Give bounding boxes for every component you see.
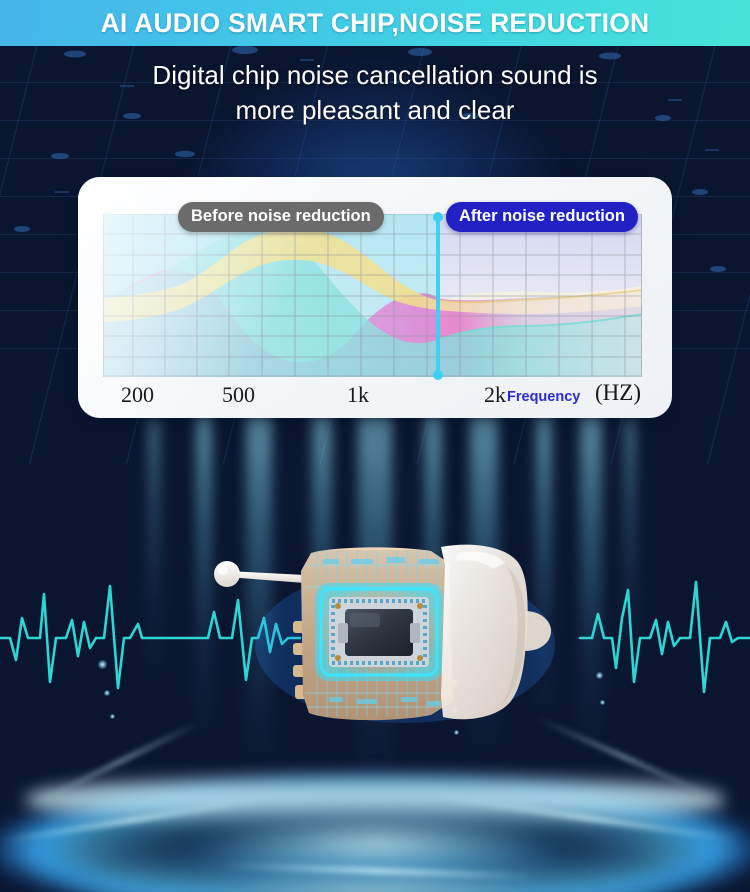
x-tick-2k: 2k: [484, 382, 506, 408]
promo-image-root: Digital chip noise cancellation sound is…: [0, 0, 750, 892]
chart-plot-area: [103, 214, 642, 377]
header-banner: AI AUDIO SMART CHIP,NOISE REDUCTION: [0, 0, 750, 46]
x-tick-500: 500: [222, 382, 255, 408]
x-tick-200: 200: [121, 382, 154, 408]
subtitle-line-1: Digital chip noise cancellation sound is: [0, 58, 750, 93]
subtitle-line-2: more pleasant and clear: [0, 93, 750, 128]
sparkle-dot-1: [98, 660, 107, 669]
divider-dot-top: [433, 212, 443, 222]
x-axis-title: Frequency: [507, 389, 580, 405]
divider-dot-bottom: [433, 370, 443, 380]
noise-reduction-chart-card: Before noise reduction After noise reduc…: [78, 177, 672, 418]
chip-clip-left: [338, 623, 348, 643]
badge-after-noise-reduction: After noise reduction: [446, 202, 638, 232]
sparkle-dot-2: [104, 690, 110, 696]
x-axis-unit: (HZ): [595, 380, 641, 406]
hearing-aid-device: [205, 525, 605, 740]
chart-x-axis: 200 500 1k 2k Frequency (HZ): [103, 380, 648, 412]
page-title: AI AUDIO SMART CHIP,NOISE REDUCTION: [101, 8, 650, 39]
ear-dome: [441, 545, 528, 720]
badge-before-noise-reduction: Before noise reduction: [178, 202, 384, 232]
subtitle-block: Digital chip noise cancellation sound is…: [0, 58, 750, 128]
noise-reduction-divider: [436, 216, 440, 375]
removal-handle: [214, 561, 305, 587]
chip-clip-right: [410, 623, 420, 643]
x-tick-1k: 1k: [347, 382, 369, 408]
